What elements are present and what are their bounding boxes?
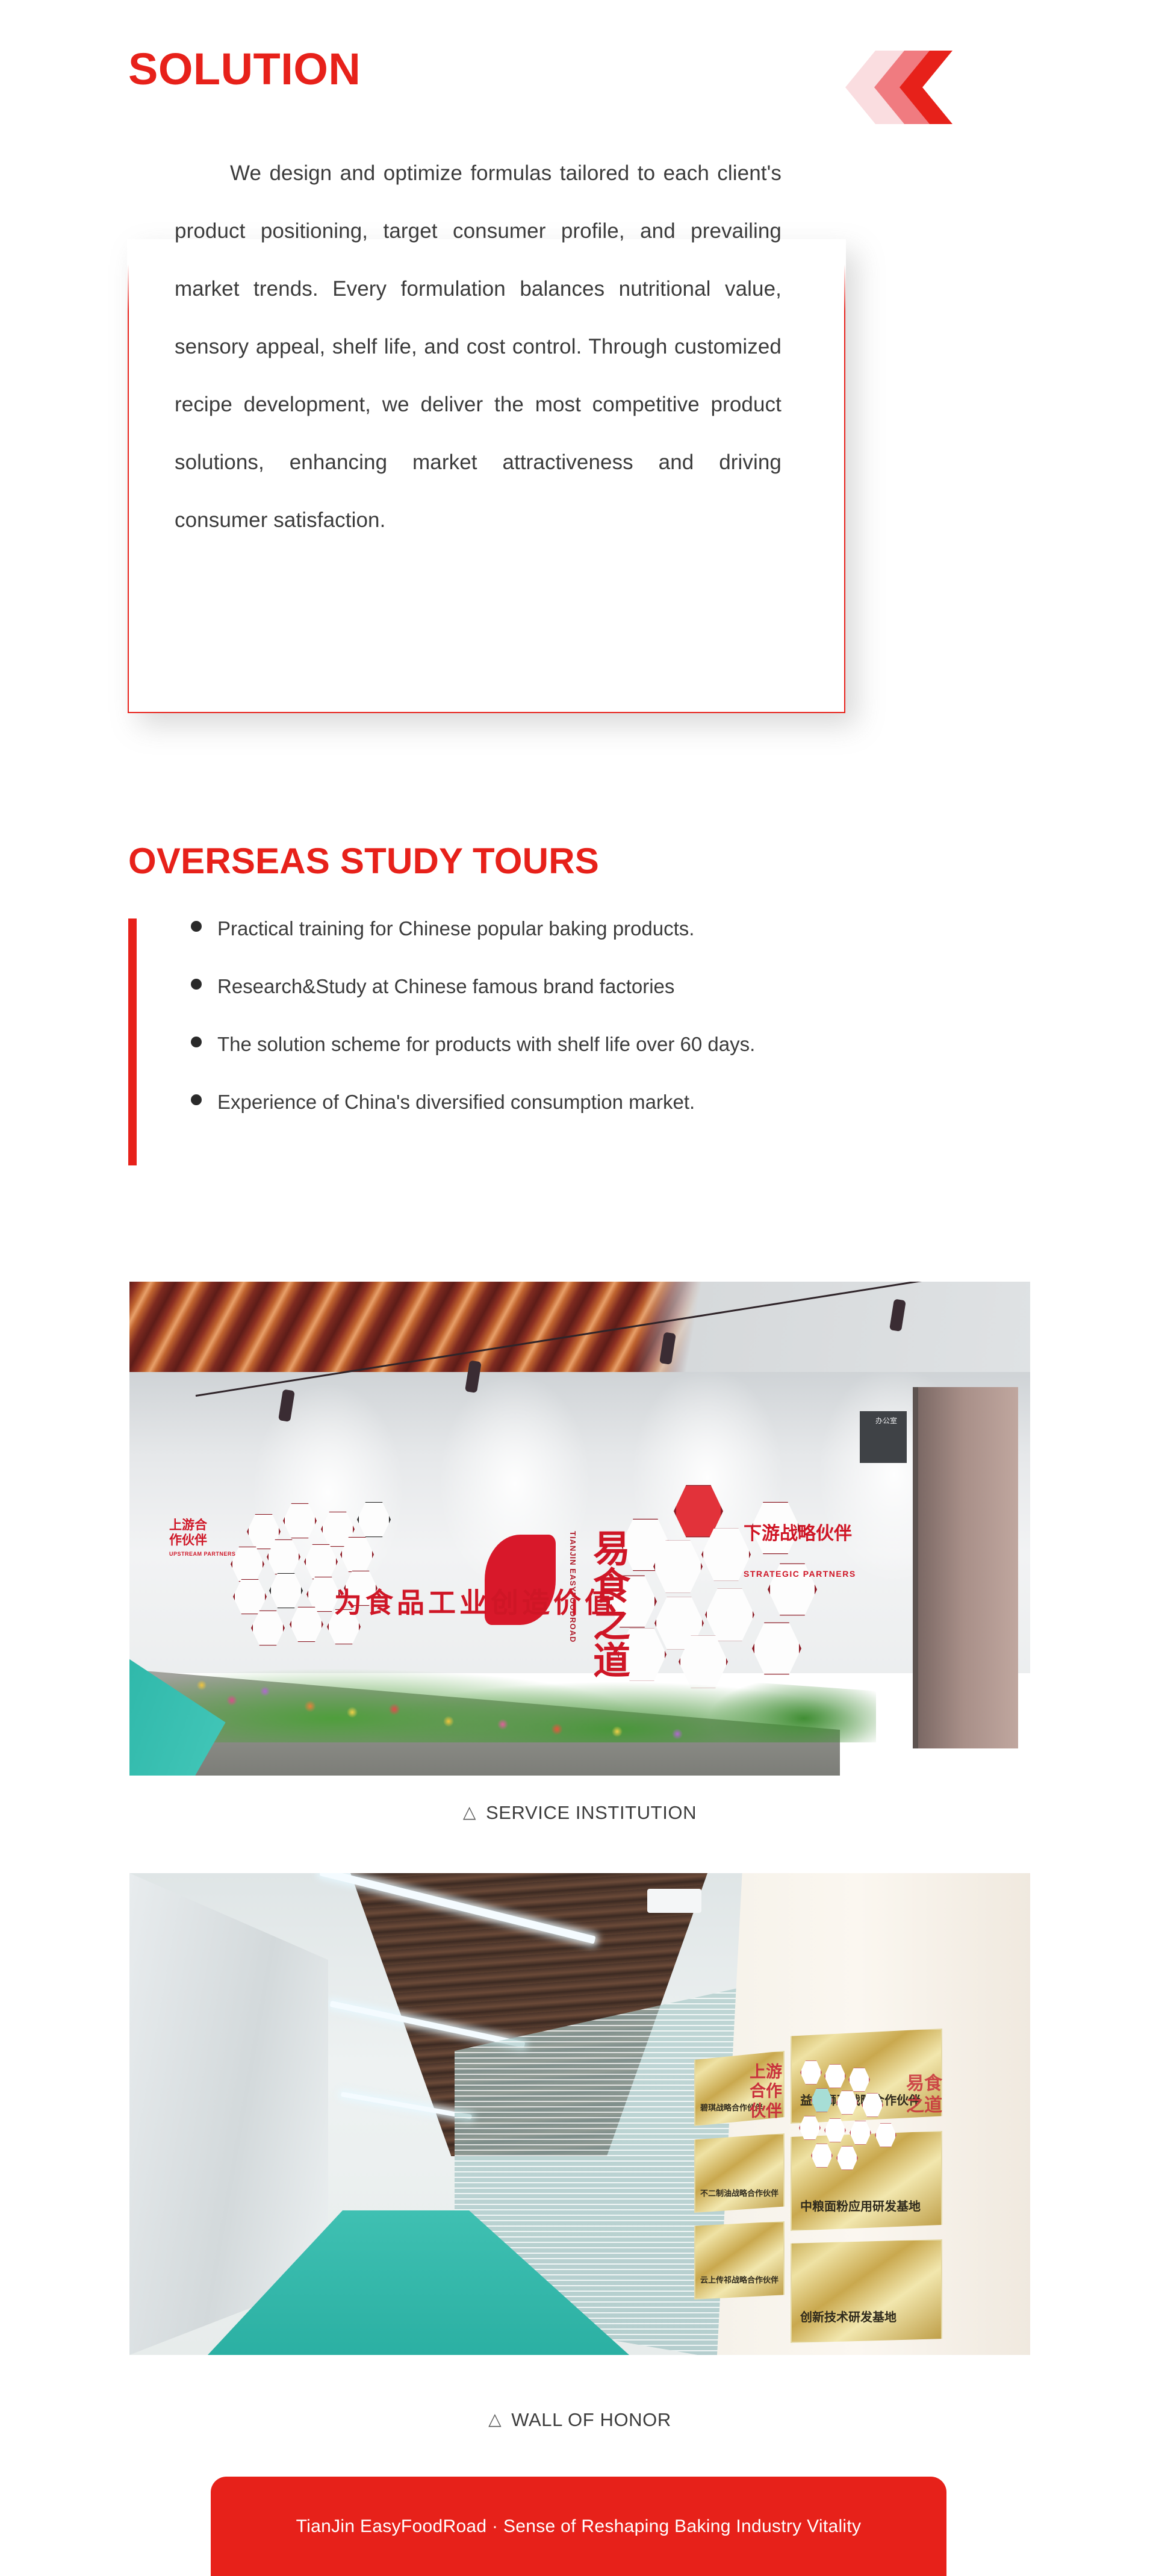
tours-list: Practical training for Chinese popular b… xyxy=(128,918,1001,1165)
partner-hex xyxy=(824,2063,846,2089)
partner-hex xyxy=(848,2067,870,2092)
photo-wall-of-honor: 碧琪战略合作伙伴 益海狮王战略合作伙伴 不二制油战略合作伙伴 中粮面粉应用研发基… xyxy=(129,1873,1030,2355)
list-item: The solution scheme for products with sh… xyxy=(191,1034,1001,1092)
list-item: Practical training for Chinese popular b… xyxy=(191,918,1001,976)
partner-hex xyxy=(811,2143,833,2168)
partner-hex xyxy=(800,2060,822,2085)
far-wall-hex-cluster: 上游合作伙伴 易食之道 xyxy=(748,2054,1019,2253)
plaque-text: 创新技术研发基地 xyxy=(800,2312,897,2324)
tours-title: OVERSEAS STUDY TOURS xyxy=(128,843,599,879)
footer-banner: TianJin EasyFoodRoad · Sense of Reshapin… xyxy=(211,2477,946,2576)
bullet-icon xyxy=(191,921,202,932)
list-item: Experience of China's diversified consum… xyxy=(191,1092,1001,1150)
list-item-label: Research&Study at Chinese famous brand f… xyxy=(217,976,674,996)
flower-bed xyxy=(129,1631,1030,1776)
emergency-light-icon xyxy=(647,1889,701,1913)
triangle-marker-icon: △ xyxy=(463,1802,476,1822)
upstream-label-cn: 上游合作伙伴 xyxy=(750,2062,787,2121)
wall-tagline: 为食品工业创造价值 xyxy=(334,1589,719,1618)
partner-hex xyxy=(850,2120,871,2145)
partner-hex xyxy=(836,2145,858,2171)
partner-hex xyxy=(283,1502,317,1539)
footer-label: TianJin EasyFoodRoad · Sense of Reshapin… xyxy=(296,2516,862,2537)
list-item-label: Practical training for Chinese popular b… xyxy=(217,918,694,938)
photo-caption: △WALL OF HONOR xyxy=(129,2409,1030,2431)
flowers-and-foliage xyxy=(135,1628,876,1742)
triangle-marker-icon: △ xyxy=(488,2409,502,2429)
solution-body-text: We design and optimize formulas tailored… xyxy=(175,145,782,549)
triple-chevron-left-icon xyxy=(838,49,952,125)
partner-hex xyxy=(875,2122,897,2148)
page-title: SOLUTION xyxy=(128,47,361,92)
partner-hex xyxy=(304,1543,338,1580)
list-item-label: The solution scheme for products with sh… xyxy=(217,1034,755,1054)
photo-caption: △SERVICE INSTITUTION xyxy=(129,1802,1030,1824)
partner-hex xyxy=(824,2118,846,2143)
solution-section: SOLUTION We design and optimize formulas… xyxy=(0,0,1156,47)
list-item-label: Experience of China's diversified consum… xyxy=(217,1092,695,1112)
bullet-icon xyxy=(191,979,202,990)
brand-cn-label: 易食之道 xyxy=(906,2073,948,2116)
photo-caption-label: SERVICE INSTITUTION xyxy=(486,1802,697,1823)
plaque-text: 云上传祁战略合作伙伴 xyxy=(700,2276,778,2284)
bullet-icon xyxy=(191,1037,202,1047)
partner-hex xyxy=(799,2115,821,2141)
bullet-icon xyxy=(191,1094,202,1105)
upstream-label-en: UPSTREAM PARTNERS xyxy=(169,1552,235,1557)
wall-tagline-cn: 为食品工业创造价值 xyxy=(334,1589,616,1617)
downstream-label-cn: 下游战略伙伴 xyxy=(744,1523,858,1545)
partner-hex xyxy=(233,1578,267,1615)
partner-hex xyxy=(357,1501,391,1538)
partner-hex xyxy=(231,1545,264,1583)
photo-caption-label: WALL OF HONOR xyxy=(511,2409,671,2430)
photo-service-institution: 易食之道 TIANJIN EASYFOODROAD 下游战略伙伴 STRATEG… xyxy=(129,1282,1030,1776)
office-door-sign-label: 办公室 xyxy=(860,1411,907,1426)
partner-hex xyxy=(862,2092,883,2118)
partner-hex xyxy=(811,2088,833,2113)
downstream-label-en: STRATEGIC PARTNERS xyxy=(744,1570,856,1578)
partner-hex xyxy=(269,1572,303,1609)
upstream-label-cn: 上游合作伙伴 xyxy=(169,1518,213,1548)
office-door-sign: 办公室 xyxy=(860,1411,907,1463)
partner-hex xyxy=(836,2090,858,2115)
list-item: Research&Study at Chinese famous brand f… xyxy=(191,976,1001,1034)
honor-plaque: 创新技术研发基地 xyxy=(791,2239,942,2343)
